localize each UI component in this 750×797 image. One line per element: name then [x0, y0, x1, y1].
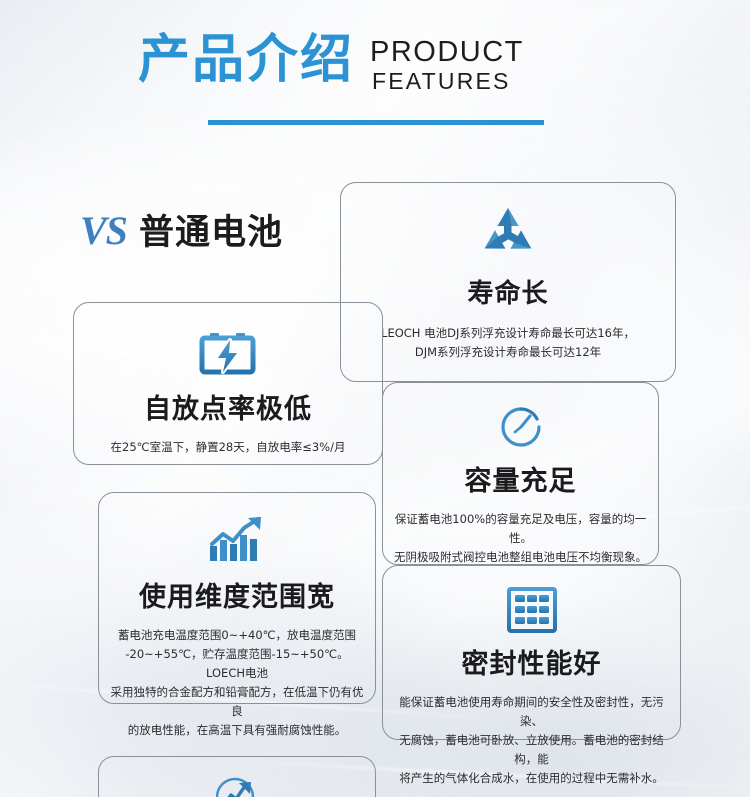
page-title-en: PRODUCT FEATURES — [370, 38, 524, 93]
page-header: 产品介绍 PRODUCT FEATURES — [0, 0, 750, 140]
feature-card-title: 容量充足 — [383, 459, 658, 498]
product-features-page: 产品介绍 PRODUCT FEATURES VS 普通电池 — [0, 0, 750, 797]
feature-card-description-line: 无腐蚀，蓄电池可卧放、立放使用。蓄电池的密封结构，能 — [389, 731, 674, 769]
feature-card-title: 自放点率极低 — [74, 387, 382, 426]
feature-card-title: 寿命长 — [341, 273, 675, 310]
feature-card-next-partial — [98, 756, 376, 797]
feature-card-description-line: 在25℃室温下，静置28天，自放电率≤3%/月 — [88, 438, 368, 457]
feature-card-description-line: -20~+55℃，贮存温度范围-15~+50℃。LOECH电池 — [109, 645, 365, 683]
feature-card-content: 自放点率极低 在25℃室温下，静置28天，自放电率≤3%/月 — [74, 329, 382, 457]
feature-card-description: LEOCH 电池DJ系列浮充设计寿命最长可达16年， DJM系列浮充设计寿命最长… — [341, 324, 675, 362]
page-title-en-line1: PRODUCT — [370, 38, 524, 67]
feature-card-content: 密封性能好 能保证蓄电池使用寿命期间的安全性及密封性，无污染、 无腐蚀，蓄电池可… — [383, 586, 680, 788]
feature-card-description: 在25℃室温下，静置28天，自放电率≤3%/月 — [74, 438, 382, 457]
trend-circle-icon — [99, 771, 375, 797]
feature-card-description-line: LEOCH 电池DJ系列浮充设计寿命最长可达16年， — [351, 324, 665, 343]
vs-target-text: 普通电池 — [139, 204, 283, 255]
feature-card-description-line: 能保证蓄电池使用寿命期间的安全性及密封性，无污染、 — [389, 693, 674, 731]
feature-card-capacity: 容量充足 保证蓄电池100%的容量充足及电压，容量的均一性。 无阴极吸附式阀控电… — [382, 382, 659, 565]
page-title: 产品介绍 PRODUCT FEATURES — [138, 34, 524, 93]
feature-card-description: 蓄电池充电温度范围0~+40℃，放电温度范围 -20~+55℃，贮存温度范围-1… — [99, 626, 375, 740]
grid-cells-icon — [383, 586, 680, 634]
feature-card-self-discharge: 自放点率极低 在25℃室温下，静置28天，自放电率≤3%/月 — [73, 302, 383, 465]
feature-card-description: 能保证蓄电池使用寿命期间的安全性及密封性，无污染、 无腐蚀，蓄电池可卧放、立放使… — [383, 693, 680, 788]
feature-card-description-line: 将产生的气体化合成水，在使用的过程中无需补水。 — [389, 769, 674, 788]
feature-card-content: 寿命长 LEOCH 电池DJ系列浮充设计寿命最长可达16年， DJM系列浮充设计… — [341, 205, 675, 362]
feature-card-content: 容量充足 保证蓄电池100%的容量充足及电压，容量的均一性。 无阴极吸附式阀控电… — [383, 401, 658, 567]
feature-card-description: 保证蓄电池100%的容量充足及电压，容量的均一性。 无阴极吸附式阀控电池整组电池… — [383, 510, 658, 567]
feature-card-title: 使用维度范围宽 — [99, 575, 375, 614]
feature-card-title: 密封性能好 — [383, 642, 680, 681]
vs-text: VS — [80, 207, 127, 254]
title-underline-rule — [208, 120, 544, 125]
vs-comparison-label: VS 普通电池 — [80, 204, 283, 255]
feature-card-temperature-range: 使用维度范围宽 蓄电池充电温度范围0~+40℃，放电温度范围 -20~+55℃，… — [98, 492, 376, 704]
feature-card-sealing: 密封性能好 能保证蓄电池使用寿命期间的安全性及密封性，无污染、 无腐蚀，蓄电池可… — [382, 565, 681, 740]
feature-card-life: 寿命长 LEOCH 电池DJ系列浮充设计寿命最长可达16年， DJM系列浮充设计… — [340, 182, 676, 382]
recycle-icon — [341, 205, 675, 263]
feature-card-content — [99, 771, 375, 797]
feature-card-description-line: DJM系列浮充设计寿命最长可达12年 — [351, 343, 665, 362]
bar-chart-up-icon — [99, 515, 375, 565]
feature-card-description-line: 保证蓄电池100%的容量充足及电压，容量的均一性。 — [387, 510, 654, 548]
page-title-cn: 产品介绍 — [138, 34, 354, 86]
feature-card-description-line: 蓄电池充电温度范围0~+40℃，放电温度范围 — [109, 626, 365, 645]
battery-charge-icon — [74, 329, 382, 377]
feature-card-content: 使用维度范围宽 蓄电池充电温度范围0~+40℃，放电温度范围 -20~+55℃，… — [99, 515, 375, 740]
timer-icon — [383, 401, 658, 453]
page-title-en-line2: FEATURES — [372, 70, 524, 93]
feature-card-description-line: 采用独特的合金配方和铅膏配方，在低温下仍有优良 — [109, 683, 365, 721]
feature-card-description-line: 的放电性能，在高温下具有强耐腐蚀性能。 — [109, 721, 365, 740]
